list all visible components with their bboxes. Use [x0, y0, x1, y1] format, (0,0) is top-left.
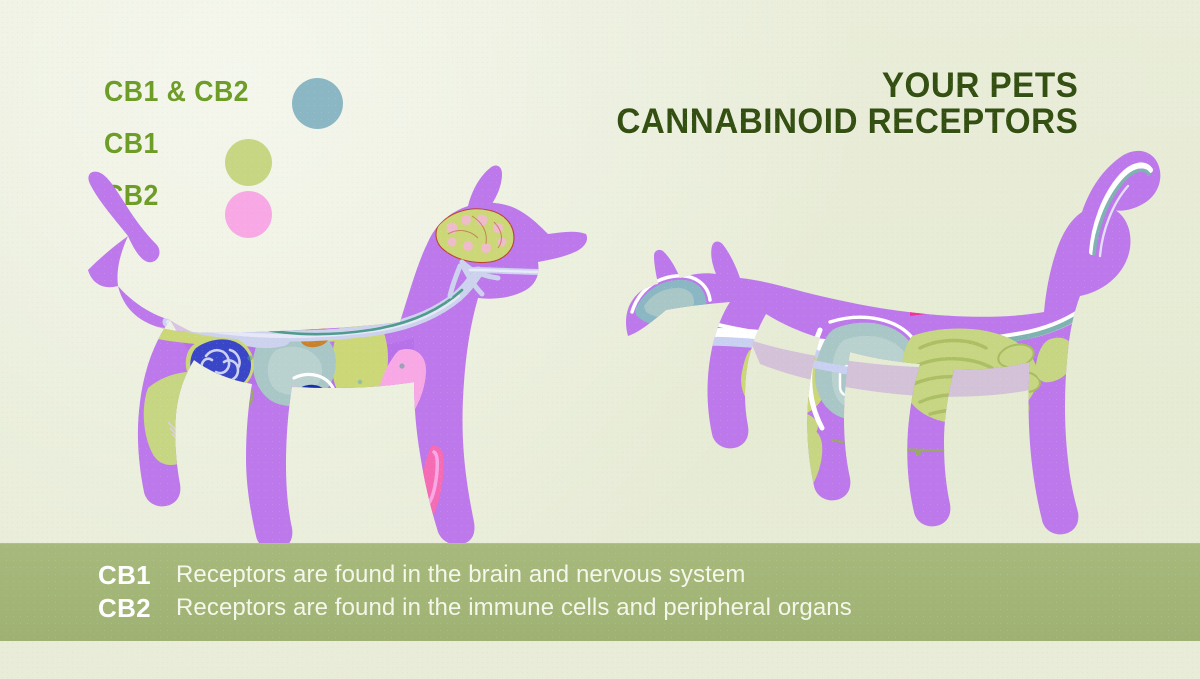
- cat-anatomy-illustration: [600, 140, 1180, 570]
- title-line-2: CANNABINOID RECEPTORS: [616, 104, 1078, 140]
- caption-bar: CB1 Receptors are found in the brain and…: [0, 543, 1200, 641]
- legend-row-cb1-cb2: CB1 & CB2: [104, 76, 364, 128]
- cat-bone-foreleg: [717, 466, 742, 532]
- caption-row-cb1: CB1 Receptors are found in the brain and…: [98, 560, 1200, 593]
- dog-intestines: [190, 339, 251, 391]
- dog-anatomy-illustration: [70, 150, 590, 570]
- cat-bone-foreleg-hl: [722, 472, 734, 522]
- cat-lumbar-highlight-2: [918, 296, 1000, 307]
- cat-muscle-thigh: [775, 424, 822, 508]
- dog-lung-dot: [358, 380, 362, 384]
- legend-label-cb1-cb2: CB1 & CB2: [104, 76, 249, 109]
- caption-key-cb1: CB1: [98, 560, 170, 591]
- page-title: YOUR PETS CANNABINOID RECEPTORS: [592, 68, 1078, 141]
- infographic-canvas: CB1 & CB2 CB1 CB2 YOUR PETS CANNABINOID …: [0, 0, 1200, 679]
- cat-lumbar-highlight: [910, 299, 1002, 316]
- title-line-1: YOUR PETS: [616, 68, 1078, 104]
- legend-dot-cb1-cb2-icon: [292, 78, 343, 129]
- cat-trachea: [666, 335, 696, 357]
- caption-text-cb1: Receptors are found in the brain and ner…: [176, 561, 745, 589]
- dog-tail: [88, 172, 159, 263]
- caption-key-cb2: CB2: [98, 593, 170, 624]
- dog-lymph-vessel: [234, 386, 252, 409]
- dog-bladder: [294, 385, 331, 422]
- caption-row-cb2: CB2 Receptors are found in the immune ce…: [98, 593, 1200, 626]
- caption-text-cb2: Receptors are found in the immune cells …: [176, 594, 852, 622]
